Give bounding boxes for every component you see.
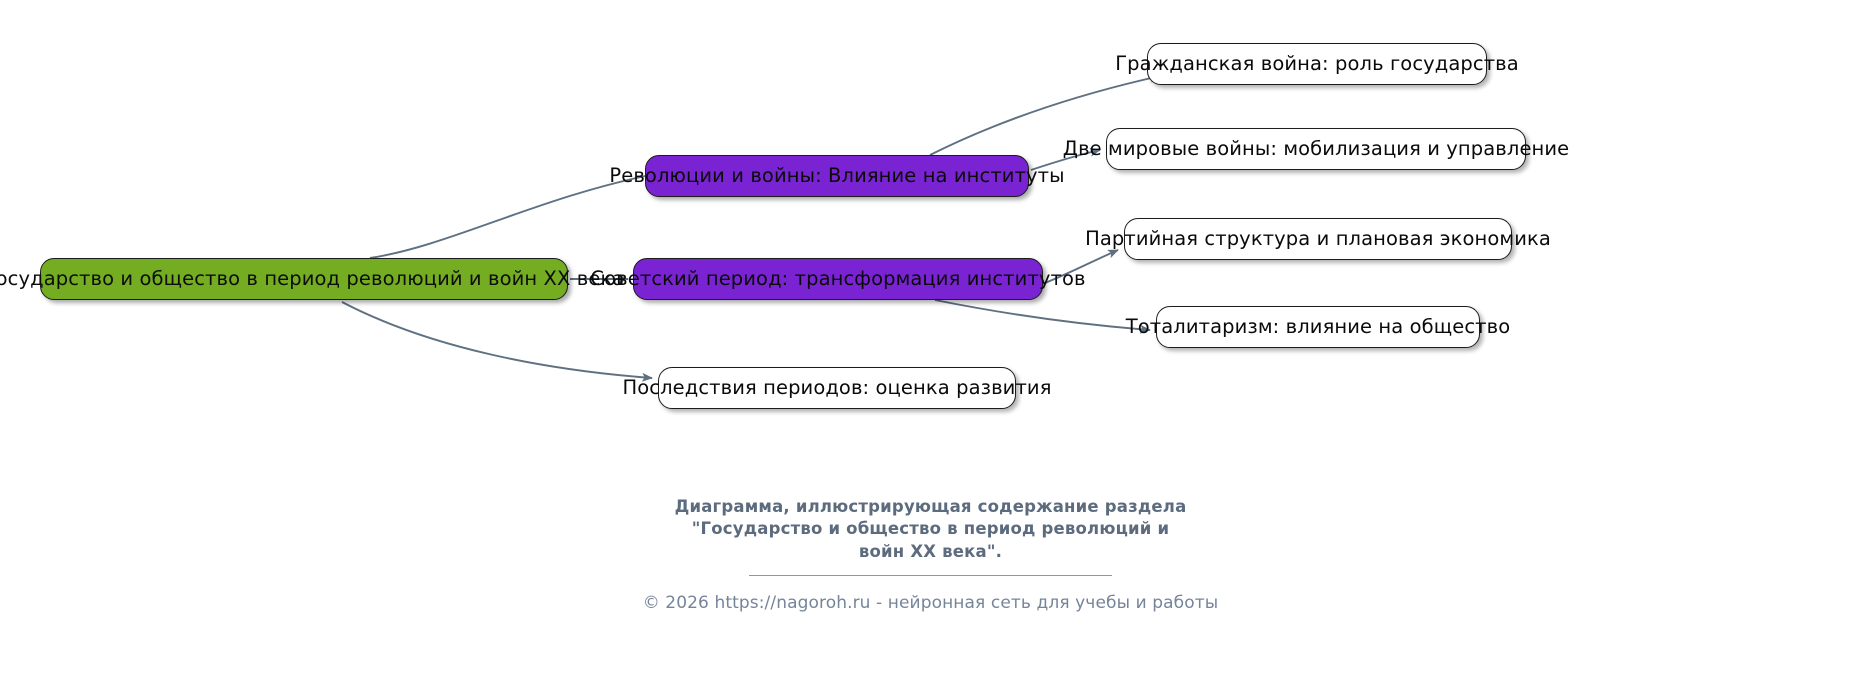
edge-paths <box>342 76 1160 378</box>
caption-line-2: "Государство и общество в период революц… <box>0 518 1861 540</box>
node-branch-consequences-label: Последствия периодов: оценка развития <box>622 378 1051 398</box>
node-branch-soviet-label: Советский период: трансформация институт… <box>590 269 1085 289</box>
caption-text: Диаграмма, иллюстрирующая содержание раз… <box>0 496 1861 563</box>
caption-divider <box>749 575 1112 576</box>
caption-block: Диаграмма, иллюстрирующая содержание раз… <box>0 496 1861 576</box>
node-branch-soviet[interactable]: Советский период: трансформация институт… <box>633 258 1043 300</box>
node-root-label: Государство и общество в период революци… <box>0 269 624 289</box>
node-leaf-totalitarianism-label: Тоталитаризм: влияние на общество <box>1126 317 1511 337</box>
footer-credit: © 2026 https://nagoroh.ru - нейронная се… <box>0 593 1861 613</box>
node-branch-revolutions-label: Революции и войны: Влияние на институты <box>609 166 1064 186</box>
node-branch-revolutions[interactable]: Революции и войны: Влияние на институты <box>645 155 1029 197</box>
diagram-canvas: Государство и общество в период революци… <box>0 0 1861 685</box>
node-leaf-totalitarianism[interactable]: Тоталитаризм: влияние на общество <box>1156 306 1480 348</box>
caption-line-3: войн XX века". <box>0 541 1861 563</box>
node-leaf-world-wars[interactable]: Две мировые войны: мобилизация и управле… <box>1106 128 1526 170</box>
edge-soviet-total <box>935 300 1150 330</box>
node-root[interactable]: Государство и общество в период революци… <box>40 258 568 300</box>
node-leaf-party-economy-label: Партийная структура и плановая экономика <box>1085 229 1551 249</box>
edge-layer <box>0 0 1861 685</box>
edge-root-consequences <box>342 302 652 378</box>
node-leaf-world-wars-label: Две мировые войны: мобилизация и управле… <box>1063 139 1570 159</box>
caption-line-1: Диаграмма, иллюстрирующая содержание раз… <box>0 496 1861 518</box>
node-leaf-party-economy[interactable]: Партийная структура и плановая экономика <box>1124 218 1512 260</box>
node-leaf-civil-war-label: Гражданская война: роль государства <box>1115 54 1519 74</box>
node-branch-consequences[interactable]: Последствия периодов: оценка развития <box>658 367 1016 409</box>
node-leaf-civil-war[interactable]: Гражданская война: роль государства <box>1147 43 1487 85</box>
